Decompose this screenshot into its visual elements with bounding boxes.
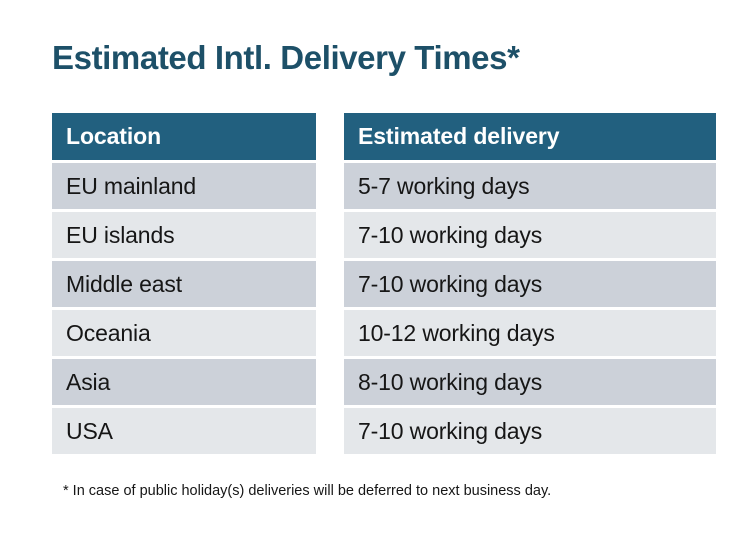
- column-divider: [316, 408, 344, 454]
- cell-location: USA: [52, 408, 316, 454]
- column-divider: [316, 261, 344, 307]
- cell-location: Oceania: [52, 310, 316, 356]
- page-title: Estimated Intl. Delivery Times*: [52, 37, 712, 79]
- column-header-location: Location: [52, 113, 316, 160]
- delivery-times-table: Location Estimated delivery EU mainland …: [52, 113, 692, 454]
- cell-estimated-delivery: 7-10 working days: [344, 408, 716, 454]
- cell-estimated-delivery: 7-10 working days: [344, 212, 716, 258]
- cell-estimated-delivery: 8-10 working days: [344, 359, 716, 405]
- column-header-estimated-delivery: Estimated delivery: [344, 113, 716, 160]
- footnote-text: * In case of public holiday(s) deliverie…: [63, 481, 723, 501]
- column-divider: [316, 310, 344, 356]
- cell-location: EU mainland: [52, 163, 316, 209]
- delivery-times-page: Estimated Intl. Delivery Times* Location…: [0, 0, 745, 536]
- column-divider: [316, 113, 344, 160]
- cell-location: EU islands: [52, 212, 316, 258]
- column-divider: [316, 163, 344, 209]
- cell-location: Middle east: [52, 261, 316, 307]
- table-header-row: Location Estimated delivery: [52, 113, 692, 160]
- cell-estimated-delivery: 10-12 working days: [344, 310, 716, 356]
- column-divider: [316, 359, 344, 405]
- cell-estimated-delivery: 5-7 working days: [344, 163, 716, 209]
- table-row: Middle east 7-10 working days: [52, 261, 692, 307]
- table-row: Oceania 10-12 working days: [52, 310, 692, 356]
- cell-estimated-delivery: 7-10 working days: [344, 261, 716, 307]
- column-divider: [316, 212, 344, 258]
- table-row: Asia 8-10 working days: [52, 359, 692, 405]
- cell-location: Asia: [52, 359, 316, 405]
- table-row: EU mainland 5-7 working days: [52, 163, 692, 209]
- table-row: USA 7-10 working days: [52, 408, 692, 454]
- table-row: EU islands 7-10 working days: [52, 212, 692, 258]
